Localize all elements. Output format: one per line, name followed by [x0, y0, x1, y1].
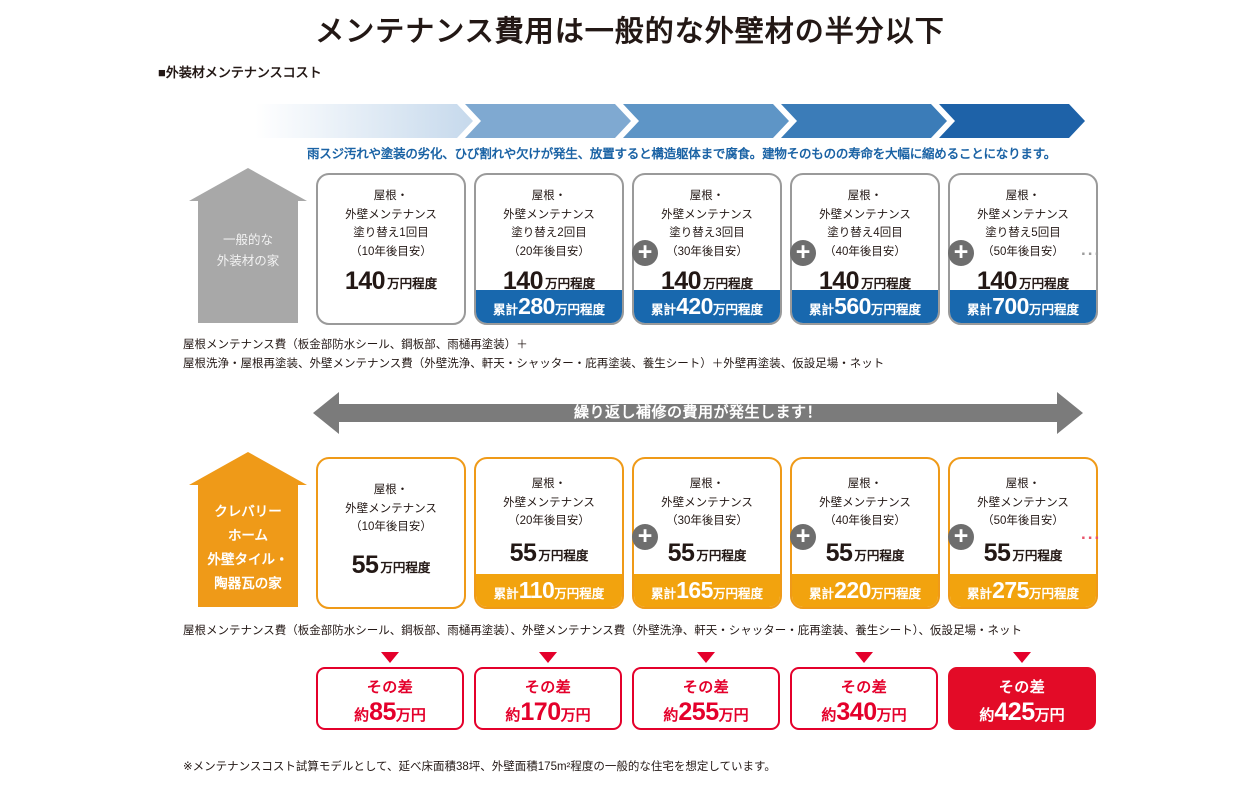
card-line: 塗り替え2回目: [476, 224, 622, 243]
difference-value: 170: [520, 698, 560, 726]
cleverly-card-3-text: 屋根・ 外壁メンテナンス （30年後目安） 55万円程度: [634, 459, 780, 568]
general-card-5-cumulative: 累計700万円程度: [950, 290, 1096, 323]
plus-icon-label: +: [796, 522, 811, 550]
general-row-ellipsis: ...: [1081, 240, 1101, 260]
card-line: （30年後目安）: [634, 512, 780, 531]
plus-icon: +: [632, 524, 658, 550]
page-title: メンテナンス費用は一般的な外壁材の半分以下: [0, 8, 1260, 50]
amount-unit: 万円程度: [545, 277, 595, 291]
general-card-1[interactable]: 屋根・ 外壁メンテナンス 塗り替え1回目 （10年後目安） 140万円程度: [316, 173, 466, 325]
difference-value: 425: [994, 698, 1034, 726]
cleverly-card-4-text: 屋根・ 外壁メンテナンス （40年後目安） 55万円程度: [792, 459, 938, 568]
cumulative-value: 275: [992, 577, 1029, 603]
difference-unit: 万円: [396, 707, 426, 724]
cleverly-house-label-line4: 陶器瓦の家: [214, 576, 282, 591]
difference-prefix: 約: [821, 707, 836, 724]
card-line: 屋根・: [476, 187, 622, 206]
amount-value: 140: [345, 267, 385, 295]
card-line: 外壁メンテナンス: [950, 494, 1096, 513]
cumulative-unit: 万円程度: [1029, 303, 1079, 317]
difference-prefix: 約: [663, 707, 678, 724]
card-line: 外壁メンテナンス: [476, 206, 622, 225]
difference-box-3: その差 約255万円: [632, 667, 780, 730]
cleverly-card-5-text: 屋根・ 外壁メンテナンス （50年後目安） 55万円程度: [950, 459, 1096, 568]
cumulative-prefix: 累計: [494, 587, 519, 601]
difference-value: 255: [678, 698, 718, 726]
general-card-3-cumulative: 累計420万円程度: [634, 290, 780, 323]
card-line: 外壁メンテナンス: [634, 206, 780, 225]
card-line: 屋根・: [950, 187, 1096, 206]
cumulative-unit: 万円程度: [871, 303, 921, 317]
cumulative-prefix: 累計: [967, 587, 992, 601]
card-line: 屋根・: [792, 475, 938, 494]
plus-icon: +: [948, 524, 974, 550]
general-house-label: 一般的な 外装材の家: [189, 230, 307, 272]
plus-icon-label: +: [796, 238, 811, 266]
cumulative-prefix: 累計: [493, 303, 518, 317]
house-roof-icon: [189, 452, 307, 485]
plus-icon-label: +: [638, 238, 653, 266]
plus-icon-label: +: [954, 522, 969, 550]
cleverly-card-5-cumulative: 累計275万円程度: [950, 574, 1096, 607]
card-line: 屋根・: [792, 187, 938, 206]
diff-pointer-icon-4: [855, 652, 873, 663]
general-house-label-line1: 一般的な: [223, 233, 273, 247]
card-line: 外壁メンテナンス: [476, 494, 622, 513]
bottom-note: ※メンテナンスコスト試算モデルとして、延べ床面積38坪、外壁面積175m²程度の…: [183, 758, 776, 774]
card-line: 塗り替え4回目: [792, 224, 938, 243]
cumulative-unit: 万円程度: [554, 587, 604, 601]
cumulative-value: 280: [518, 293, 555, 319]
amount-unit: 万円程度: [696, 549, 746, 563]
card-line: 屋根・: [950, 475, 1096, 494]
cleverly-house-label: クレバリー ホーム 外壁タイル・ 陶器瓦の家: [189, 500, 307, 596]
cleverly-card-4-cumulative: 累計220万円程度: [792, 574, 938, 607]
cumulative-unit: 万円程度: [555, 303, 605, 317]
cleverly-card-2-text: 屋根・ 外壁メンテナンス （20年後目安） 55万円程度: [476, 459, 622, 568]
cleverly-house-label-line1: クレバリー: [214, 504, 282, 519]
diff-pointer-icon-2: [539, 652, 557, 663]
cleverly-row-ellipsis: ...: [1081, 524, 1101, 544]
cleverly-house-label-line2: ホーム: [228, 528, 268, 543]
general-footnote-line2: 屋根洗浄・屋根再塗装、外壁メンテナンス費（外壁洗浄、軒天・シャッター・庇再塗装、…: [183, 355, 884, 374]
card-line: （20年後目安）: [476, 512, 622, 531]
card-line: 外壁メンテナンス: [792, 494, 938, 513]
difference-box-2: その差 約170万円: [474, 667, 622, 730]
chevron-segment-4: [781, 104, 947, 138]
cleverly-card-1-text: 屋根・ 外壁メンテナンス （10年後目安） 55万円程度: [318, 459, 464, 580]
card-line: 外壁メンテナンス: [318, 500, 464, 519]
card-line: 外壁メンテナンス: [634, 494, 780, 513]
difference-box-4: その差 約340万円: [790, 667, 938, 730]
cumulative-prefix: 累計: [967, 303, 992, 317]
cumulative-value: 220: [834, 577, 871, 603]
difference-value: 85: [369, 698, 396, 726]
difference-amount-2: 約170万円: [476, 698, 620, 727]
general-card-4-text: 屋根・ 外壁メンテナンス 塗り替え4回目 （40年後目安） 140万円程度: [792, 175, 938, 296]
card-line: （50年後目安）: [950, 512, 1096, 531]
general-card-1-amount: 140万円程度: [318, 267, 464, 296]
amount-unit: 万円程度: [854, 549, 904, 563]
difference-unit: 万円: [561, 707, 591, 724]
general-card-2[interactable]: 屋根・ 外壁メンテナンス 塗り替え2回目 （20年後目安） 140万円程度 累計…: [474, 173, 624, 325]
card-line: 屋根・: [476, 475, 622, 494]
amount-value: 55: [826, 539, 853, 567]
cleverly-card-1[interactable]: 屋根・ 外壁メンテナンス （10年後目安） 55万円程度: [316, 457, 466, 609]
general-house-label-line2: 外装材の家: [217, 254, 280, 268]
amount-unit: 万円程度: [538, 549, 588, 563]
diff-pointer-icon-1: [381, 652, 399, 663]
card-line: 塗り替え5回目: [950, 224, 1096, 243]
difference-amount-4: 約340万円: [792, 698, 936, 727]
cleverly-house-icon: クレバリー ホーム 外壁タイル・ 陶器瓦の家: [189, 452, 307, 607]
cumulative-unit: 万円程度: [713, 303, 763, 317]
card-line: （10年後目安）: [318, 518, 464, 537]
card-line: 外壁メンテナンス: [950, 206, 1096, 225]
cumulative-unit: 万円程度: [713, 587, 763, 601]
difference-amount-1: 約85万円: [318, 698, 462, 727]
chevron-segment-2: [465, 104, 631, 138]
cleverly-card-2-amount: 55万円程度: [476, 539, 622, 568]
amount-value: 55: [352, 551, 379, 579]
card-line: （10年後目安）: [318, 243, 464, 262]
cumulative-unit: 万円程度: [1029, 587, 1079, 601]
difference-label: その差: [634, 676, 778, 697]
card-line: （20年後目安）: [476, 243, 622, 262]
infographic-page: メンテナンス費用は一般的な外壁材の半分以下 ■外装材メンテナンスコスト 雨スジ汚…: [0, 0, 1260, 795]
general-card-4-cumulative: 累計560万円程度: [792, 290, 938, 323]
card-line: 外壁メンテナンス: [318, 206, 464, 225]
repeat-cost-arrow: 繰り返し補修の費用が発生します！: [313, 392, 1083, 434]
card-line: 屋根・: [634, 187, 780, 206]
amount-unit: 万円程度: [387, 277, 437, 291]
cumulative-value: 420: [676, 293, 713, 319]
diff-pointer-icon-5: [1013, 652, 1031, 663]
difference-label: その差: [318, 676, 462, 697]
card-line: 屋根・: [634, 475, 780, 494]
cumulative-prefix: 累計: [651, 303, 676, 317]
cumulative-value: 165: [676, 577, 713, 603]
difference-label: その差: [950, 676, 1094, 697]
cumulative-prefix: 累計: [809, 303, 834, 317]
cleverly-house-label-line3: 外壁タイル・: [208, 552, 289, 567]
card-line: （40年後目安）: [792, 512, 938, 531]
difference-label: その差: [792, 676, 936, 697]
plus-icon: +: [790, 524, 816, 550]
difference-prefix: 約: [354, 707, 369, 724]
difference-unit: 万円: [719, 707, 749, 724]
cleverly-footnote: 屋根メンテナンス費（板金部防水シール、鋼板部、雨樋再塗装）、外壁メンテナンス費（…: [183, 622, 1022, 641]
difference-label: その差: [476, 676, 620, 697]
general-card-3-text: 屋根・ 外壁メンテナンス 塗り替え3回目 （30年後目安） 140万円程度: [634, 175, 780, 296]
cumulative-value: 700: [992, 293, 1029, 319]
cumulative-prefix: 累計: [809, 587, 834, 601]
difference-box-5: その差 約425万円: [948, 667, 1096, 730]
chevron-segment-3: [623, 104, 789, 138]
amount-value: 55: [510, 539, 537, 567]
plus-icon-label: +: [638, 522, 653, 550]
section-subtitle: ■外装材メンテナンスコスト: [158, 62, 322, 81]
degradation-chevron-band: [183, 104, 1083, 138]
card-line: 外壁メンテナンス: [792, 206, 938, 225]
difference-unit: 万円: [1035, 707, 1065, 724]
difference-amount-3: 約255万円: [634, 698, 778, 727]
amount-unit: 万円程度: [703, 277, 753, 291]
card-line: 塗り替え3回目: [634, 224, 780, 243]
amount-value: 55: [668, 539, 695, 567]
cleverly-card-1-amount: 55万円程度: [318, 551, 464, 580]
card-line: 屋根・: [318, 481, 464, 500]
repeat-cost-arrow-label: 繰り返し補修の費用が発生します！: [313, 392, 1083, 434]
degradation-warning-text: 雨スジ汚れや塗装の劣化、ひび割れや欠けが発生、放置すると構造躯体まで腐食。建物そ…: [307, 143, 1056, 162]
amount-unit: 万円程度: [861, 277, 911, 291]
general-footnote-line1: 屋根メンテナンス費（板金部防水シール、鋼板部、雨樋再塗装）＋: [183, 336, 528, 355]
cumulative-unit: 万円程度: [871, 587, 921, 601]
amount-unit: 万円程度: [1019, 277, 1069, 291]
diff-pointer-icon-3: [697, 652, 715, 663]
plus-icon: +: [948, 240, 974, 266]
amount-unit: 万円程度: [1012, 549, 1062, 563]
house-roof-icon: [189, 168, 307, 201]
card-line: 屋根・: [318, 187, 464, 206]
card-line: 塗り替え1回目: [318, 224, 464, 243]
plus-icon: +: [632, 240, 658, 266]
general-card-1-text: 屋根・ 外壁メンテナンス 塗り替え1回目 （10年後目安） 140万円程度: [318, 175, 464, 296]
difference-unit: 万円: [877, 707, 907, 724]
cumulative-prefix: 累計: [651, 587, 676, 601]
difference-amount-5: 約425万円: [950, 698, 1094, 727]
cumulative-value: 560: [834, 293, 871, 319]
cumulative-value: 110: [519, 577, 555, 603]
general-card-2-text: 屋根・ 外壁メンテナンス 塗り替え2回目 （20年後目安） 140万円程度: [476, 175, 622, 296]
cleverly-card-3-cumulative: 累計165万円程度: [634, 574, 780, 607]
difference-box-1: その差 約85万円: [316, 667, 464, 730]
amount-value: 55: [984, 539, 1011, 567]
chevron-segment-1: [183, 104, 473, 138]
plus-icon-label: +: [954, 238, 969, 266]
difference-prefix: 約: [505, 707, 520, 724]
general-house-icon: 一般的な 外装材の家: [189, 168, 307, 323]
difference-value: 340: [836, 698, 876, 726]
cleverly-card-2-cumulative: 累計110万円程度: [476, 574, 622, 607]
general-card-2-cumulative: 累計280万円程度: [476, 290, 622, 323]
general-card-5-text: 屋根・ 外壁メンテナンス 塗り替え5回目 （50年後目安） 140万円程度: [950, 175, 1096, 296]
cleverly-card-2[interactable]: 屋根・ 外壁メンテナンス （20年後目安） 55万円程度 累計110万円程度: [474, 457, 624, 609]
amount-unit: 万円程度: [380, 561, 430, 575]
chevron-segment-5: [939, 104, 1085, 138]
difference-prefix: 約: [979, 707, 994, 724]
plus-icon: +: [790, 240, 816, 266]
